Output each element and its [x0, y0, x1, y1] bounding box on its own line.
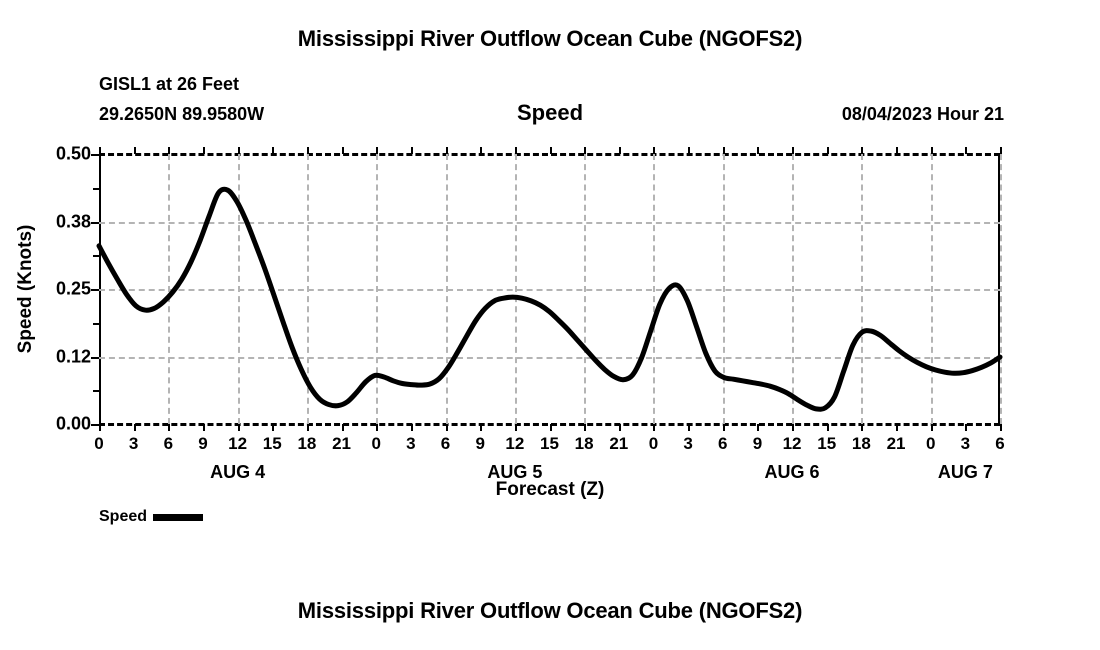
x-tick-label: 6	[441, 434, 450, 454]
x-tick-label: 0	[926, 434, 935, 454]
x-tick-top	[1000, 147, 1002, 154]
x-tick-label: 15	[817, 434, 836, 454]
x-tick-top	[965, 147, 967, 154]
x-tick	[584, 424, 586, 431]
x-tick-top	[480, 147, 482, 154]
x-tick	[203, 424, 205, 431]
x-tick-top	[272, 147, 274, 154]
x-tick-top	[376, 147, 378, 154]
x-tick-top	[168, 147, 170, 154]
x-tick	[861, 424, 863, 431]
y-tick-label: 0.50	[56, 144, 91, 165]
y-tick-label: 0.38	[56, 211, 91, 232]
x-tick-label: 15	[540, 434, 559, 454]
x-tick-label: 15	[263, 434, 282, 454]
x-tick	[99, 424, 101, 431]
y-tick	[91, 289, 99, 291]
x-tick-top	[584, 147, 586, 154]
speed-line-path	[99, 189, 1000, 409]
x-tick	[619, 424, 621, 431]
x-tick	[931, 424, 933, 431]
x-tick	[238, 424, 240, 431]
x-tick-label: 3	[406, 434, 415, 454]
x-tick-top	[827, 147, 829, 154]
y-tick	[91, 154, 99, 156]
x-tick-top	[653, 147, 655, 154]
x-tick-top	[550, 147, 552, 154]
x-tick	[272, 424, 274, 431]
x-tick-top	[792, 147, 794, 154]
x-tick-top	[134, 147, 136, 154]
x-tick-label: 9	[475, 434, 484, 454]
legend: Speed	[99, 508, 203, 526]
x-tick-label: 21	[609, 434, 628, 454]
x-tick	[688, 424, 690, 431]
x-tick	[550, 424, 552, 431]
x-tick-top	[931, 147, 933, 154]
x-tick-label: 12	[783, 434, 802, 454]
x-tick	[376, 424, 378, 431]
plot-area: 0.000.120.250.380.50 0369121518210369121…	[99, 154, 1000, 424]
legend-swatch-speed	[153, 514, 203, 521]
x-tick	[446, 424, 448, 431]
chart-page: Mississippi River Outflow Ocean Cube (NG…	[0, 0, 1100, 650]
x-tick	[480, 424, 482, 431]
x-tick-top	[757, 147, 759, 154]
x-tick	[827, 424, 829, 431]
x-tick	[411, 424, 413, 431]
x-tick-top	[896, 147, 898, 154]
x-tick-top	[342, 147, 344, 154]
x-tick-label: 18	[297, 434, 316, 454]
x-tick-label: 6	[718, 434, 727, 454]
x-tick	[792, 424, 794, 431]
x-tick-top	[307, 147, 309, 154]
x-tick-top	[203, 147, 205, 154]
x-tick	[1000, 424, 1002, 431]
x-tick-label: 3	[683, 434, 692, 454]
x-tick	[965, 424, 967, 431]
x-tick	[342, 424, 344, 431]
legend-label-speed: Speed	[99, 508, 147, 526]
x-tick-label: 12	[505, 434, 524, 454]
y-tick	[91, 222, 99, 224]
x-tick-top	[688, 147, 690, 154]
x-tick-top	[238, 147, 240, 154]
y-tick-label: 0.12	[56, 346, 91, 367]
x-tick-top	[446, 147, 448, 154]
x-tick-label: 18	[575, 434, 594, 454]
x-tick	[307, 424, 309, 431]
x-tick-label: 12	[228, 434, 247, 454]
x-tick-label: 3	[961, 434, 970, 454]
x-tick-label: 21	[332, 434, 351, 454]
x-axis-title: Forecast (Z)	[0, 479, 1100, 501]
x-tick-top	[99, 147, 101, 154]
x-tick	[896, 424, 898, 431]
x-tick-top	[619, 147, 621, 154]
x-tick-top	[723, 147, 725, 154]
y-tick	[91, 424, 99, 426]
x-tick	[515, 424, 517, 431]
x-tick	[168, 424, 170, 431]
gridline-vertical	[1000, 154, 1002, 424]
y-axis-title: Speed (Knots)	[15, 225, 37, 354]
x-tick	[757, 424, 759, 431]
x-tick-label: 9	[198, 434, 207, 454]
page-title: Mississippi River Outflow Ocean Cube (NG…	[0, 26, 1100, 52]
x-tick	[134, 424, 136, 431]
issued-label: 08/04/2023 Hour 21	[842, 104, 1004, 125]
x-tick-label: 21	[887, 434, 906, 454]
x-tick-label: 3	[129, 434, 138, 454]
y-tick-label: 0.00	[56, 414, 91, 435]
x-tick-label: 9	[753, 434, 762, 454]
x-tick-top	[515, 147, 517, 154]
station-label: GISL1 at 26 Feet	[99, 74, 239, 95]
speed-series-line	[99, 154, 1000, 424]
x-tick-label: 18	[852, 434, 871, 454]
x-tick	[723, 424, 725, 431]
x-tick	[653, 424, 655, 431]
x-tick-label: 0	[371, 434, 380, 454]
x-tick-label: 0	[94, 434, 103, 454]
x-tick-label: 0	[649, 434, 658, 454]
x-tick-label: 6	[164, 434, 173, 454]
x-tick-top	[411, 147, 413, 154]
y-tick-label: 0.25	[56, 279, 91, 300]
x-tick-top	[861, 147, 863, 154]
x-tick-label: 6	[995, 434, 1004, 454]
footer-title: Mississippi River Outflow Ocean Cube (NG…	[0, 598, 1100, 624]
y-tick	[91, 357, 99, 359]
